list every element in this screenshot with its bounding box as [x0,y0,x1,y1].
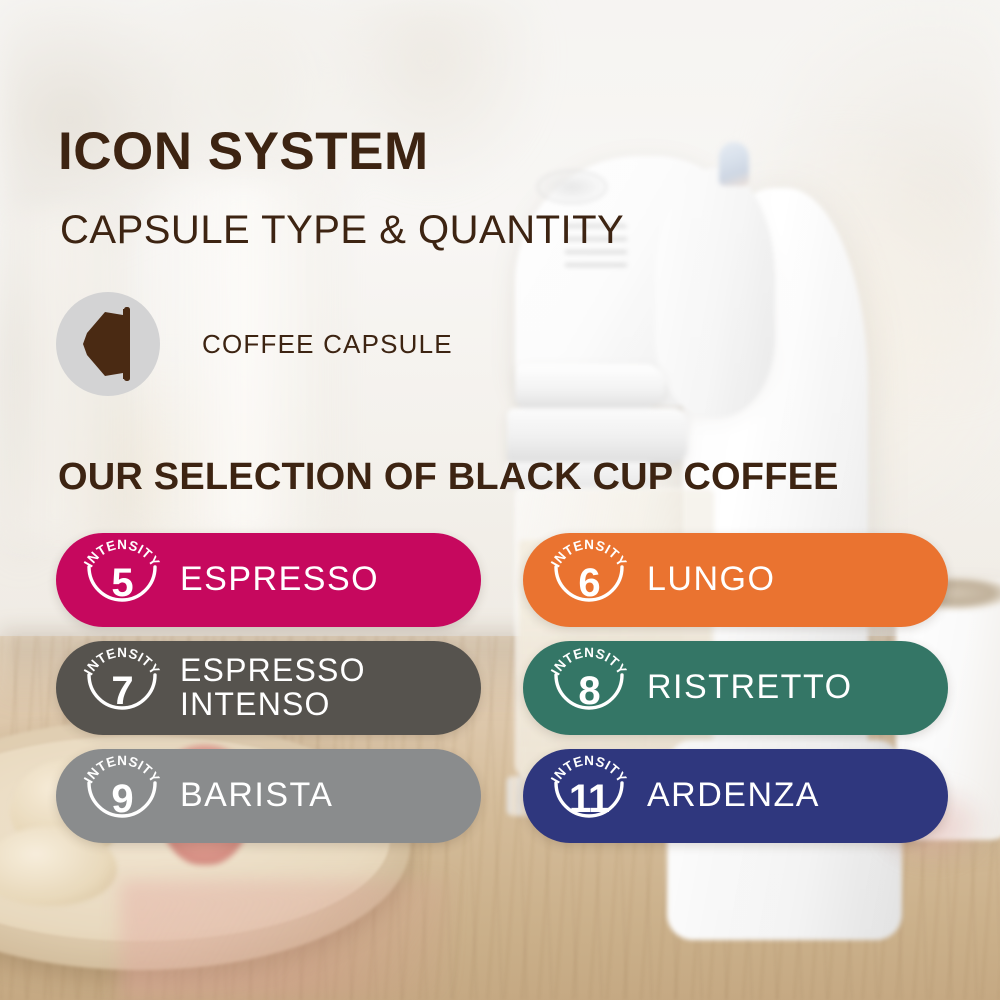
coffee-variant-name: BARISTA [180,778,333,814]
coffee-variant-pill[interactable]: INTENSITY9BARISTA [56,749,481,843]
coffee-variant-pill[interactable]: INTENSITY7ESPRESSO INTENSO [56,641,481,735]
page-title: ICON SYSTEM [58,121,429,182]
capsule-legend: COFFEE CAPSULE [56,292,453,396]
coffee-variant-grid: INTENSITY5ESPRESSOINTENSITY6LUNGOINTENSI… [56,533,948,843]
coffee-variant-name: RISTRETTO [647,670,853,706]
capsule-legend-label: COFFEE CAPSULE [202,329,453,360]
intensity-badge: INTENSITY7 [74,645,170,731]
intensity-badge: INTENSITY11 [541,753,637,839]
intensity-value: 8 [541,671,637,711]
intensity-value: 6 [541,563,637,603]
coffee-variant-name: ARDENZA [647,778,820,814]
coffee-variant-pill[interactable]: INTENSITY8RISTRETTO [523,641,948,735]
coffee-variant-name: ESPRESSO [180,562,379,598]
intensity-badge: INTENSITY8 [541,645,637,731]
intensity-value: 5 [74,563,170,603]
intensity-value: 11 [541,779,637,819]
page-subtitle: CAPSULE TYPE & QUANTITY [60,208,624,253]
selection-heading: OUR SELECTION OF BLACK CUP COFFEE [58,456,839,499]
coffee-variant-pill[interactable]: INTENSITY11ARDENZA [523,749,948,843]
coffee-variant-name: ESPRESSO INTENSO [180,654,366,721]
capsule-badge [56,292,160,396]
poster-canvas: ICON SYSTEM CAPSULE TYPE & QUANTITY COFF… [0,0,1000,1000]
intensity-value: 7 [74,671,170,711]
intensity-badge: INTENSITY9 [74,753,170,839]
poster-content: ICON SYSTEM CAPSULE TYPE & QUANTITY COFF… [0,0,1000,1000]
coffee-capsule-icon [77,307,139,381]
intensity-badge: INTENSITY6 [541,537,637,623]
intensity-value: 9 [74,779,170,819]
coffee-variant-pill[interactable]: INTENSITY5ESPRESSO [56,533,481,627]
intensity-badge: INTENSITY5 [74,537,170,623]
coffee-variant-name: LUNGO [647,562,775,598]
coffee-variant-pill[interactable]: INTENSITY6LUNGO [523,533,948,627]
